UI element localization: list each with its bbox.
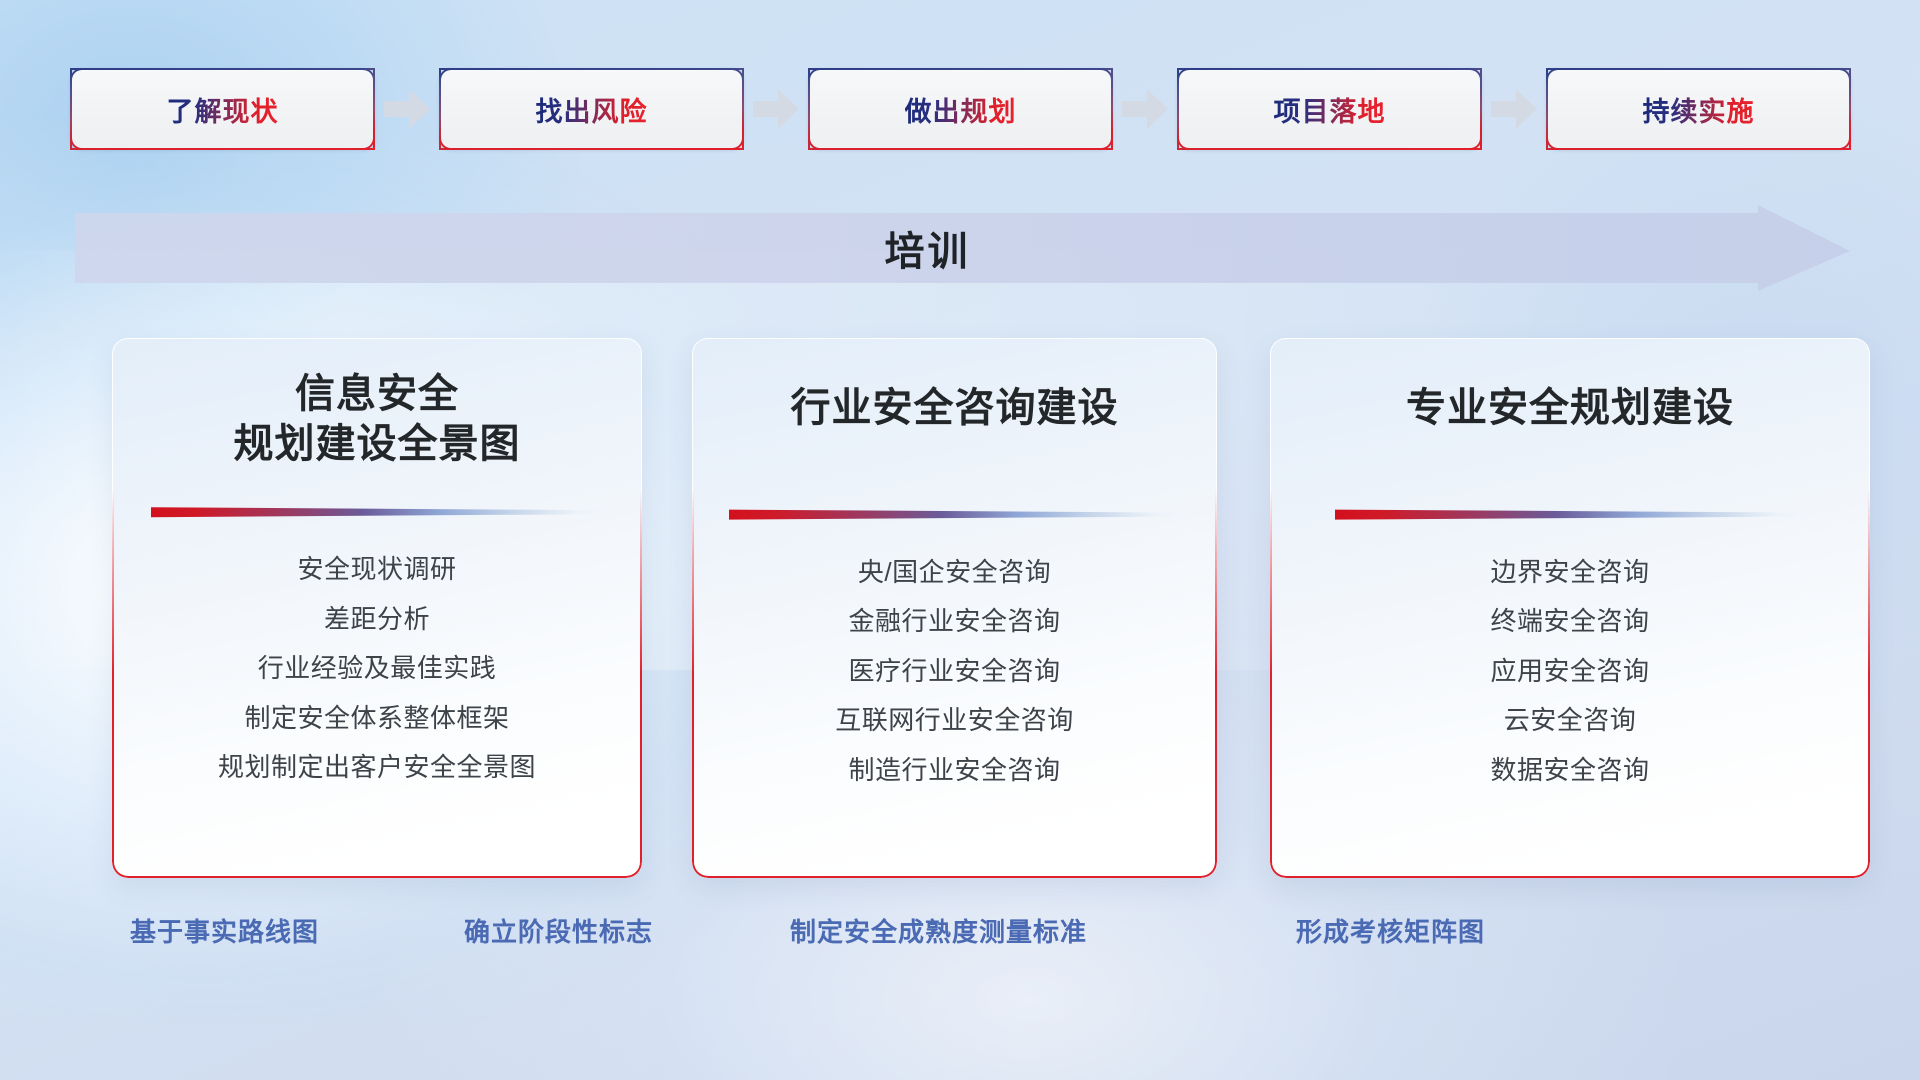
service-card-3-title: 专业安全规划建设 (1270, 338, 1870, 434)
list-item: 制造行业安全咨询 (848, 754, 1060, 787)
list-item: 行业经验及最佳实践 (258, 652, 497, 685)
list-item: 央/国企安全咨询 (858, 556, 1051, 589)
training-banner-label: 培训 (75, 205, 1850, 291)
service-card-2-divider (729, 508, 1181, 522)
process-arrow-3-icon (1113, 83, 1177, 135)
list-item: 差距分析 (324, 603, 430, 636)
process-step-5-label: 持续实施 (1643, 90, 1755, 129)
process-step-3[interactable]: 做出规划 (808, 68, 1113, 150)
process-step-4[interactable]: 项目落地 (1177, 68, 1482, 150)
service-card-group: 信息安全 规划建设全景图 安全现状调研 差距分析 行业经验及最佳实践 制定安全体… (0, 338, 1920, 878)
process-step-2[interactable]: 找出风险 (439, 68, 744, 150)
training-banner: 培训 (75, 205, 1850, 291)
process-step-1-label: 了解现状 (167, 90, 279, 129)
outcome-caption-1: 基于事实路线图 (130, 912, 319, 949)
list-item: 医疗行业安全咨询 (848, 655, 1060, 688)
process-arrow-1-icon (375, 83, 439, 135)
list-item: 数据安全咨询 (1490, 754, 1649, 787)
service-card-2-title-line1: 行业安全咨询建设 (692, 384, 1217, 434)
list-item: 边界安全咨询 (1490, 556, 1649, 589)
service-card-2[interactable]: 行业安全咨询建设 央/国企安全咨询 金融行业安全咨询 医疗行业安全咨询 互联网行… (692, 338, 1217, 878)
process-arrow-4-icon (1482, 83, 1546, 135)
outcome-caption-4: 形成考核矩阵图 (1296, 912, 1485, 949)
process-step-flow: 了解现状 找出风险 做出规划 项目落地 持续实施 (70, 68, 1850, 150)
process-arrow-2-icon (744, 83, 808, 135)
process-step-2-label: 找出风险 (536, 90, 648, 129)
process-step-1[interactable]: 了解现状 (70, 68, 375, 150)
service-card-1-title-line1: 信息安全 (112, 370, 642, 420)
list-item: 云安全咨询 (1504, 704, 1637, 737)
list-item: 金融行业安全咨询 (848, 605, 1060, 638)
service-card-1[interactable]: 信息安全 规划建设全景图 安全现状调研 差距分析 行业经验及最佳实践 制定安全体… (112, 338, 642, 878)
list-item: 规划制定出客户安全全景图 (218, 751, 536, 784)
outcome-caption-group: 基于事实路线图 确立阶段性标志 制定安全成熟度测量标准 形成考核矩阵图 (0, 912, 1920, 958)
service-card-1-title-line2: 规划建设全景图 (112, 420, 642, 470)
process-step-3-label: 做出规划 (905, 90, 1017, 129)
service-card-1-divider (151, 505, 603, 519)
service-card-3-divider (1335, 508, 1805, 522)
outcome-caption-3: 制定安全成熟度测量标准 (790, 912, 1087, 949)
service-card-2-list: 央/国企安全咨询 金融行业安全咨询 医疗行业安全咨询 互联网行业安全咨询 制造行… (692, 522, 1217, 878)
service-card-3-list: 边界安全咨询 终端安全咨询 应用安全咨询 云安全咨询 数据安全咨询 (1270, 522, 1870, 878)
process-step-5[interactable]: 持续实施 (1546, 68, 1851, 150)
list-item: 安全现状调研 (297, 553, 456, 586)
process-step-4-label: 项目落地 (1274, 90, 1386, 129)
list-item: 制定安全体系整体框架 (244, 702, 509, 735)
outcome-caption-2: 确立阶段性标志 (464, 912, 653, 949)
service-card-3[interactable]: 专业安全规划建设 边界安全咨询 终端安全咨询 应用安全咨询 云安全咨询 数据安全… (1270, 338, 1870, 878)
service-card-1-list: 安全现状调研 差距分析 行业经验及最佳实践 制定安全体系整体框架 规划制定出客户… (112, 519, 642, 878)
list-item: 终端安全咨询 (1490, 605, 1649, 638)
list-item: 应用安全咨询 (1490, 655, 1649, 688)
list-item: 互联网行业安全咨询 (835, 704, 1074, 737)
service-card-2-title: 行业安全咨询建设 (692, 338, 1217, 434)
service-card-3-title-line1: 专业安全规划建设 (1270, 384, 1870, 434)
service-card-1-title: 信息安全 规划建设全景图 (112, 338, 642, 469)
